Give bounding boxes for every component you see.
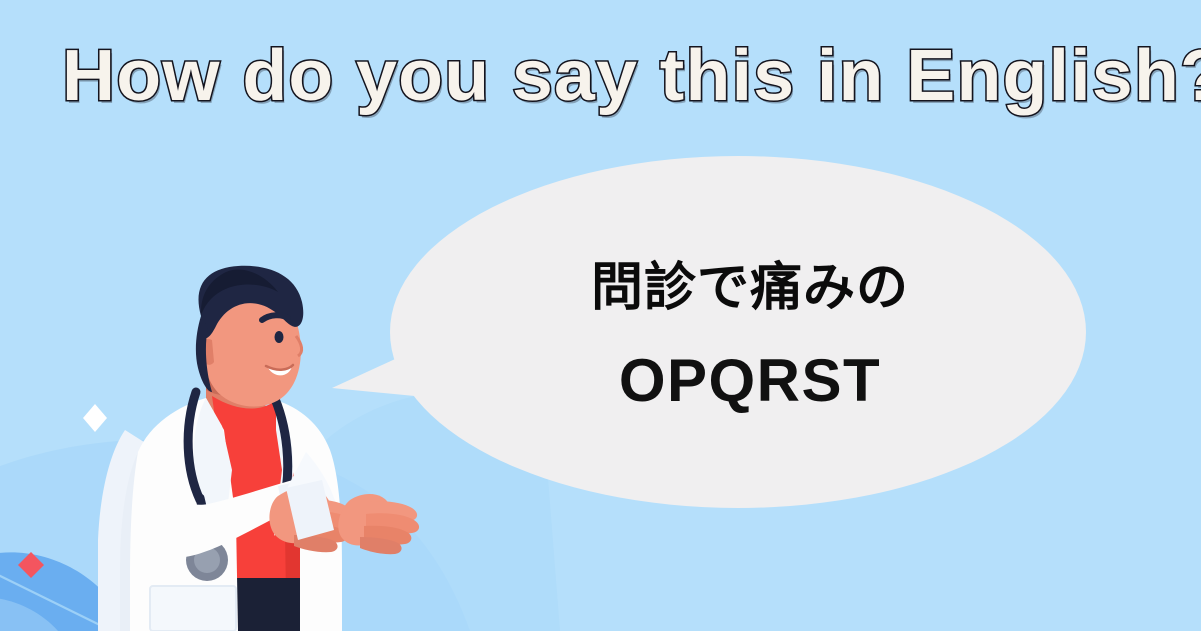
- page-title: How do you say this in English?: [62, 33, 1174, 119]
- speech-bubble-body: [390, 156, 1086, 508]
- eye-shape: [275, 331, 284, 343]
- speech-bubble: 問診で痛みの OPQRST: [330, 152, 1090, 517]
- coat-pocket-shape: [150, 586, 236, 631]
- speech-bubble-shape: [330, 152, 1090, 517]
- poster-canvas: 問診で痛みの OPQRST How do you say this in Eng…: [0, 0, 1201, 631]
